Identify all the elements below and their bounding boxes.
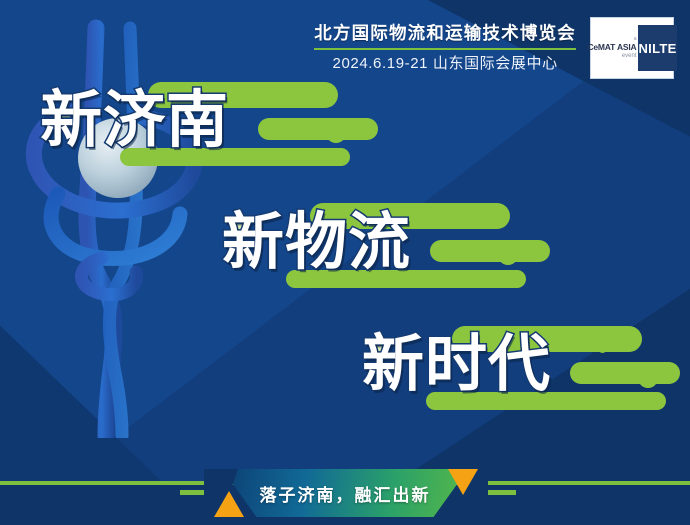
logo-suffix: event: [622, 53, 637, 59]
headline-row-3: 新时代: [362, 322, 551, 408]
logo-brand-square: NILTE: [638, 25, 676, 71]
green-dot-2-small: [455, 220, 464, 229]
green-dot-3-large: [638, 368, 658, 388]
headline-row-1: 新济南: [40, 78, 229, 164]
green-bar-3b: [570, 362, 680, 384]
header-divider: [314, 48, 576, 50]
slogan-text: 落子济南，融汇出新: [222, 469, 468, 517]
headline-text-3: 新时代: [362, 334, 551, 396]
green-dot-3-small: [598, 344, 607, 353]
header-text-block: 北方国际物流和运输技术博览会 2024.6.19-21 山东国际会展中心: [314, 23, 576, 74]
logo-partner-block: a CeMAT ASIA event: [587, 37, 636, 59]
logo-brand-name: NILTE: [638, 41, 676, 56]
exhibition-poster: 北方国际物流和运输技术博览会 2024.6.19-21 山东国际会展中心 a C…: [0, 0, 690, 525]
poster-header: 北方国际物流和运输技术博览会 2024.6.19-21 山东国际会展中心 a C…: [245, 0, 690, 96]
green-dot-1-large: [326, 123, 346, 143]
nilte-logo: a CeMAT ASIA event NILTE: [590, 17, 674, 79]
green-dot-2-large: [498, 245, 518, 265]
event-title: 北方国际物流和运输技术博览会: [314, 23, 576, 45]
headline-text-2: 新物流: [222, 212, 411, 274]
logo-partner-name: CeMAT ASIA: [587, 43, 636, 52]
green-bar-1b: [258, 118, 378, 140]
headline-text-1: 新济南: [40, 90, 229, 152]
slogan-ribbon-group: 落子济南，融汇出新: [0, 469, 690, 525]
headline-row-2: 新物流: [222, 200, 411, 286]
green-dot-1-small: [273, 98, 282, 107]
event-date-venue: 2024.6.19-21 山东国际会展中心: [333, 55, 558, 73]
green-bar-2b: [430, 240, 550, 262]
